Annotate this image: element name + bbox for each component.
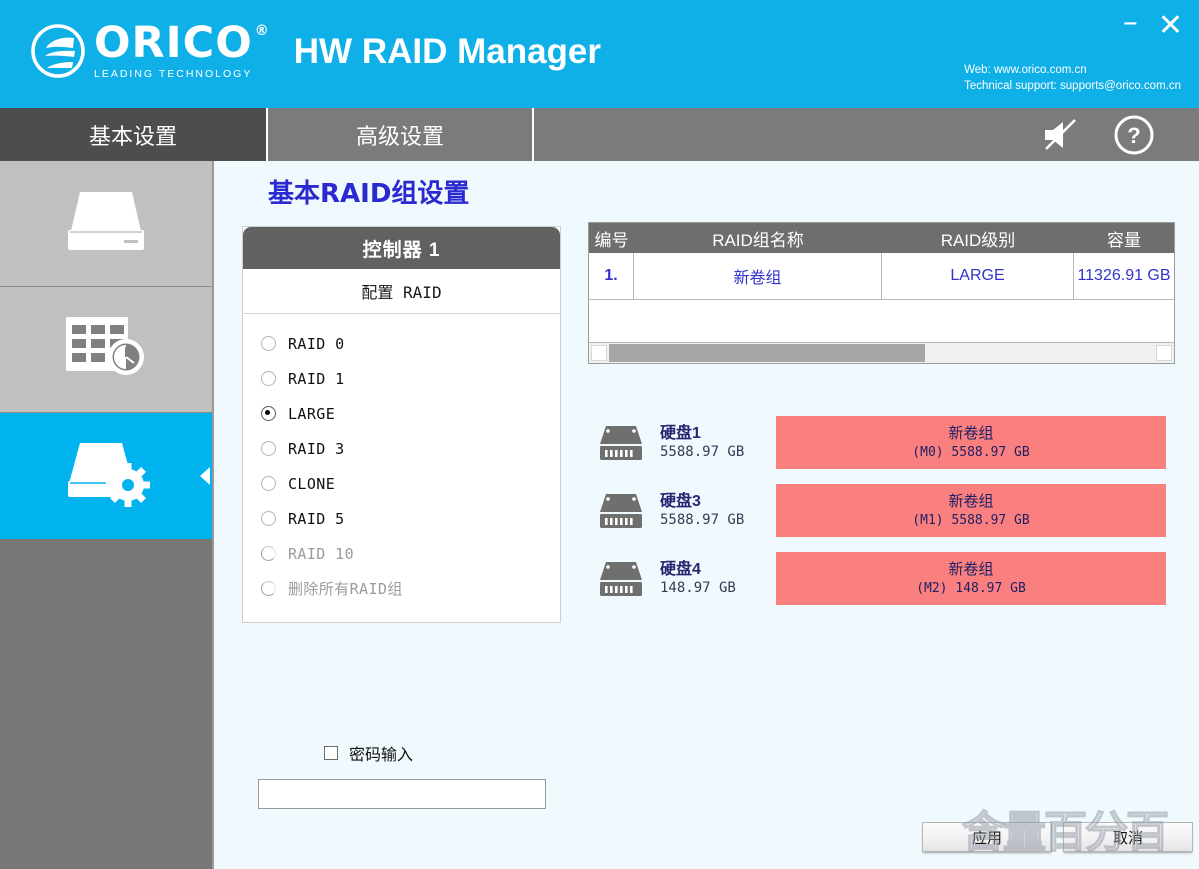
configure-raid-label: 配置 RAID [243, 269, 560, 314]
help-circle-icon[interactable]: ? [1113, 114, 1155, 156]
radio-option-raid-3[interactable]: RAID 3 [261, 431, 560, 466]
orico-logo-icon [30, 23, 86, 79]
main-content: 基本RAID组设置 控制器 1 配置 RAID RAID 0 RAID 1 LA… [212, 161, 1199, 869]
disk-meta: 硬盘4 148.97 GB [660, 560, 776, 598]
enclosure-disk-icon [58, 182, 154, 265]
radio-option-clone[interactable]: CLONE [261, 466, 560, 501]
radio-indicator [261, 511, 276, 526]
radio-option-label: RAID 5 [288, 510, 345, 528]
disk-row: 硬盘1 5588.97 GB 新卷组 (M0) 5588.97 GB [596, 416, 1166, 469]
sidebar-item-smart-report[interactable] [0, 287, 212, 413]
radio-indicator-disabled [261, 581, 276, 596]
radio-option-label: RAID 10 [288, 545, 354, 563]
disk-group-name: 新卷组 [948, 424, 993, 443]
sidebar [0, 161, 212, 869]
radio-indicator [261, 476, 276, 491]
column-header-index: 编号 [589, 223, 634, 253]
title-bar: ORICO® LEADING TECHNOLOGY HW RAID Manage… [0, 0, 1199, 108]
tab-bar: 基本设置 高级设置 ? [0, 108, 1199, 161]
disk-group-bar[interactable]: 新卷组 (M0) 5588.97 GB [776, 416, 1166, 469]
radio-indicator [261, 441, 276, 456]
disk-name: 硬盘1 [660, 424, 776, 443]
radio-option-delete-all-raid: 删除所有RAID组 [261, 571, 560, 606]
radio-option-label: RAID 1 [288, 370, 345, 388]
cell-index: 1. [589, 253, 634, 300]
radio-option-label: LARGE [288, 405, 335, 423]
disk-group-name: 新卷组 [948, 492, 993, 511]
tab-bar-icons: ? [1039, 108, 1155, 161]
orico-word: ORICO® [94, 22, 270, 65]
radio-indicator [261, 336, 276, 351]
password-checkbox[interactable] [324, 746, 338, 760]
orico-tagline: LEADING TECHNOLOGY [94, 68, 270, 80]
hard-disk-icon [596, 558, 646, 600]
raid-mode-radio-group: RAID 0 RAID 1 LARGE RAID 3 CLONE [243, 314, 560, 622]
hard-disk-icon [596, 422, 646, 464]
password-checkbox-row[interactable]: 密码输入 [324, 741, 413, 765]
page-title: 基本RAID组设置 [268, 173, 469, 210]
disk-group-bar[interactable]: 新卷组 (M2) 148.97 GB [776, 552, 1166, 605]
radio-option-label: RAID 0 [288, 335, 345, 353]
website-line: Web: www.orico.com.cn [964, 62, 1181, 78]
radio-option-large[interactable]: LARGE [261, 396, 560, 431]
tab-basic-settings-label: 基本设置 [89, 119, 177, 151]
raid-group-table: 编号 RAID组名称 RAID级别 容量 1. 新卷组 LARGE 11326.… [588, 222, 1175, 364]
table-empty-area [589, 300, 1174, 342]
mute-speaker-icon[interactable] [1039, 116, 1083, 154]
disk-group-bar[interactable]: 新卷组 (M1) 5588.97 GB [776, 484, 1166, 537]
disk-meta: 硬盘1 5588.97 GB [660, 424, 776, 462]
disk-meta: 硬盘3 5588.97 GB [660, 492, 776, 530]
radio-option-label: CLONE [288, 475, 335, 493]
tab-advanced-settings[interactable]: 高级设置 [268, 108, 534, 161]
disk-member-info: (M1) 5588.97 GB [912, 511, 1029, 530]
scrollbar-track[interactable] [609, 344, 1154, 362]
disk-allocation-list: 硬盘1 5588.97 GB 新卷组 (M0) 5588.97 GB [596, 416, 1166, 620]
scroll-right-button[interactable] [1156, 345, 1172, 361]
window-controls: – ✕ [1123, 8, 1183, 44]
disk-row: 硬盘3 5588.97 GB 新卷组 (M1) 5588.97 GB [596, 484, 1166, 537]
cell-capacity: 11326.91 GB [1074, 253, 1174, 300]
registered-mark: ® [255, 24, 270, 38]
hw-raid-manager-window: ORICO® LEADING TECHNOLOGY HW RAID Manage… [0, 0, 1199, 869]
support-line: Technical support: supports@orico.com.cn [964, 78, 1181, 94]
cancel-button[interactable]: 取消 [1063, 822, 1193, 852]
disk-name: 硬盘4 [660, 560, 776, 579]
close-icon[interactable]: ✕ [1158, 11, 1183, 41]
sidebar-collapse-arrow-icon[interactable] [200, 467, 210, 485]
disk-row: 硬盘4 148.97 GB 新卷组 (M2) 148.97 GB [596, 552, 1166, 605]
cell-name: 新卷组 [634, 253, 882, 300]
disk-capacity: 5588.97 GB [660, 443, 776, 462]
radio-indicator-selected [261, 406, 276, 421]
app-title: HW RAID Manager [294, 34, 601, 69]
radio-option-raid-5[interactable]: RAID 5 [261, 501, 560, 536]
orico-wordmark: ORICO® LEADING TECHNOLOGY [94, 22, 270, 80]
scrollbar-thumb[interactable] [609, 344, 925, 362]
column-header-level: RAID级别 [882, 223, 1074, 253]
password-checkbox-label: 密码输入 [349, 741, 413, 765]
svg-text:?: ? [1127, 123, 1140, 148]
password-input[interactable] [258, 779, 546, 809]
tab-advanced-settings-label: 高级设置 [356, 119, 444, 151]
radio-option-raid-10: RAID 10 [261, 536, 560, 571]
cell-level: LARGE [882, 253, 1074, 300]
smart-table-clock-icon [58, 311, 154, 388]
disk-settings-gear-icon [56, 435, 156, 518]
radio-option-label: RAID 3 [288, 440, 345, 458]
table-header-row: 编号 RAID组名称 RAID级别 容量 [589, 223, 1174, 253]
contact-info: Web: www.orico.com.cn Technical support:… [964, 62, 1181, 94]
hard-disk-icon [596, 490, 646, 532]
table-horizontal-scrollbar[interactable] [589, 342, 1174, 363]
radio-indicator [261, 371, 276, 386]
sidebar-item-enclosure[interactable] [0, 161, 212, 287]
tab-basic-settings[interactable]: 基本设置 [0, 108, 268, 161]
disk-member-info: (M0) 5588.97 GB [912, 443, 1029, 462]
minimize-icon[interactable]: – [1123, 8, 1138, 38]
radio-indicator-disabled [261, 546, 276, 561]
disk-member-info: (M2) 148.97 GB [916, 579, 1026, 598]
controller-card-header: 控制器 1 [243, 227, 560, 269]
radio-option-raid-0[interactable]: RAID 0 [261, 326, 560, 361]
scroll-left-button[interactable] [591, 345, 607, 361]
disk-capacity: 148.97 GB [660, 579, 776, 598]
disk-capacity: 5588.97 GB [660, 511, 776, 530]
sidebar-item-raid-settings[interactable] [0, 413, 212, 539]
disk-group-name: 新卷组 [948, 560, 993, 579]
controller-card: 控制器 1 配置 RAID RAID 0 RAID 1 LARGE RAID [242, 226, 561, 623]
radio-option-raid-1[interactable]: RAID 1 [261, 361, 560, 396]
disk-name: 硬盘3 [660, 492, 776, 511]
brand-block: ORICO® LEADING TECHNOLOGY HW RAID Manage… [30, 22, 601, 80]
column-header-name: RAID组名称 [634, 223, 882, 253]
radio-option-label: 删除所有RAID组 [288, 578, 403, 599]
table-row[interactable]: 1. 新卷组 LARGE 11326.91 GB [589, 253, 1174, 300]
column-header-capacity: 容量 [1074, 223, 1174, 253]
apply-button[interactable]: 应用 [922, 822, 1052, 852]
